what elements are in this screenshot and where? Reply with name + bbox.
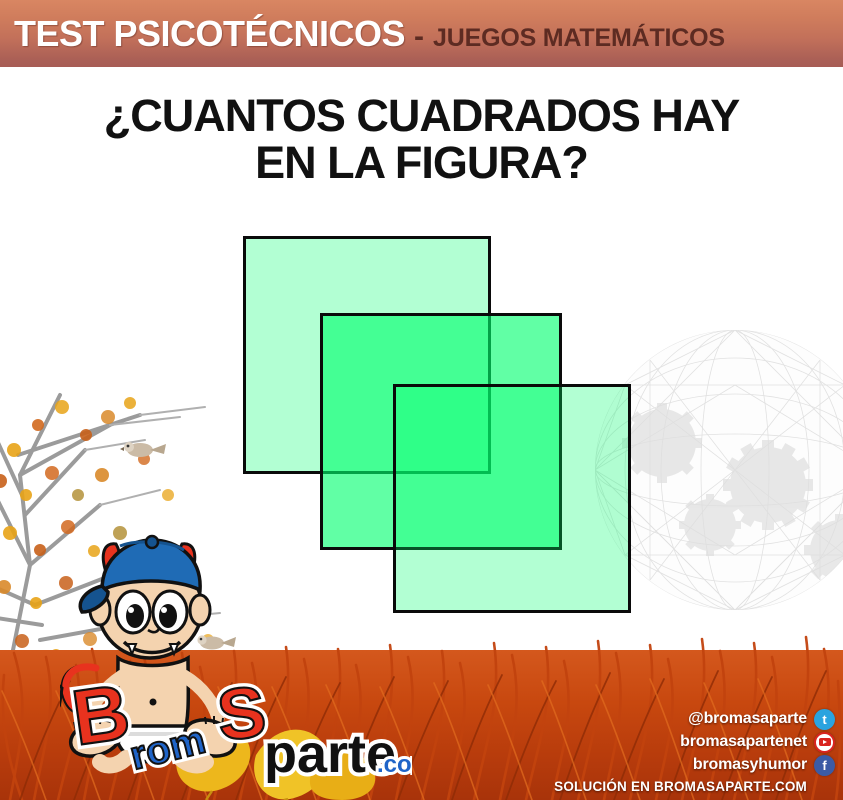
page-title: ¿CUANTOS CUADRADOS HAY EN LA FIGURA? bbox=[0, 92, 843, 187]
twitter-handle: @bromasaparte bbox=[688, 710, 807, 728]
youtube-icon[interactable] bbox=[814, 732, 835, 753]
logo-part-1: B bbox=[67, 668, 135, 762]
header-main-title: TEST PSICOTÉCNICOS bbox=[14, 13, 405, 55]
facebook-icon[interactable]: f bbox=[814, 755, 835, 776]
solution-text: SOLUCIÓN EN BROMASAPARTE.COM bbox=[505, 779, 835, 794]
poster-canvas: TEST PSICOTÉCNICOS - JUEGOS MATEMÁTICOS … bbox=[0, 0, 843, 800]
logo-part-2: rom bbox=[126, 718, 210, 779]
header-banner: TEST PSICOTÉCNICOS - JUEGOS MATEMÁTICOS bbox=[0, 0, 843, 67]
social-block: @bromasaparte t bromasapartenet bromasyh… bbox=[505, 708, 835, 794]
puzzle-square-3 bbox=[393, 384, 631, 613]
facebook-handle: bromasyhumor bbox=[693, 756, 807, 774]
brand-logo[interactable]: B B rom rom S S parte parte .com .com bbox=[52, 668, 412, 788]
twitter-icon[interactable]: t bbox=[814, 709, 835, 730]
bird-icon bbox=[120, 442, 166, 457]
question-line-1: ¿CUANTOS CUADRADOS HAY bbox=[104, 90, 740, 141]
social-row-facebook[interactable]: bromasyhumor f bbox=[693, 754, 835, 776]
header-subtitle: JUEGOS MATEMÁTICOS bbox=[433, 24, 725, 53]
youtube-handle: bromasapartenet bbox=[680, 733, 807, 751]
social-row-youtube[interactable]: bromasapartenet bbox=[680, 731, 835, 753]
header-separator: - bbox=[414, 20, 424, 54]
social-row-twitter[interactable]: @bromasaparte t bbox=[688, 708, 835, 730]
logo-part-5: .com bbox=[377, 751, 412, 778]
question-line-2: EN LA FIGURA? bbox=[0, 139, 843, 186]
logo-part-3: S bbox=[214, 672, 270, 757]
